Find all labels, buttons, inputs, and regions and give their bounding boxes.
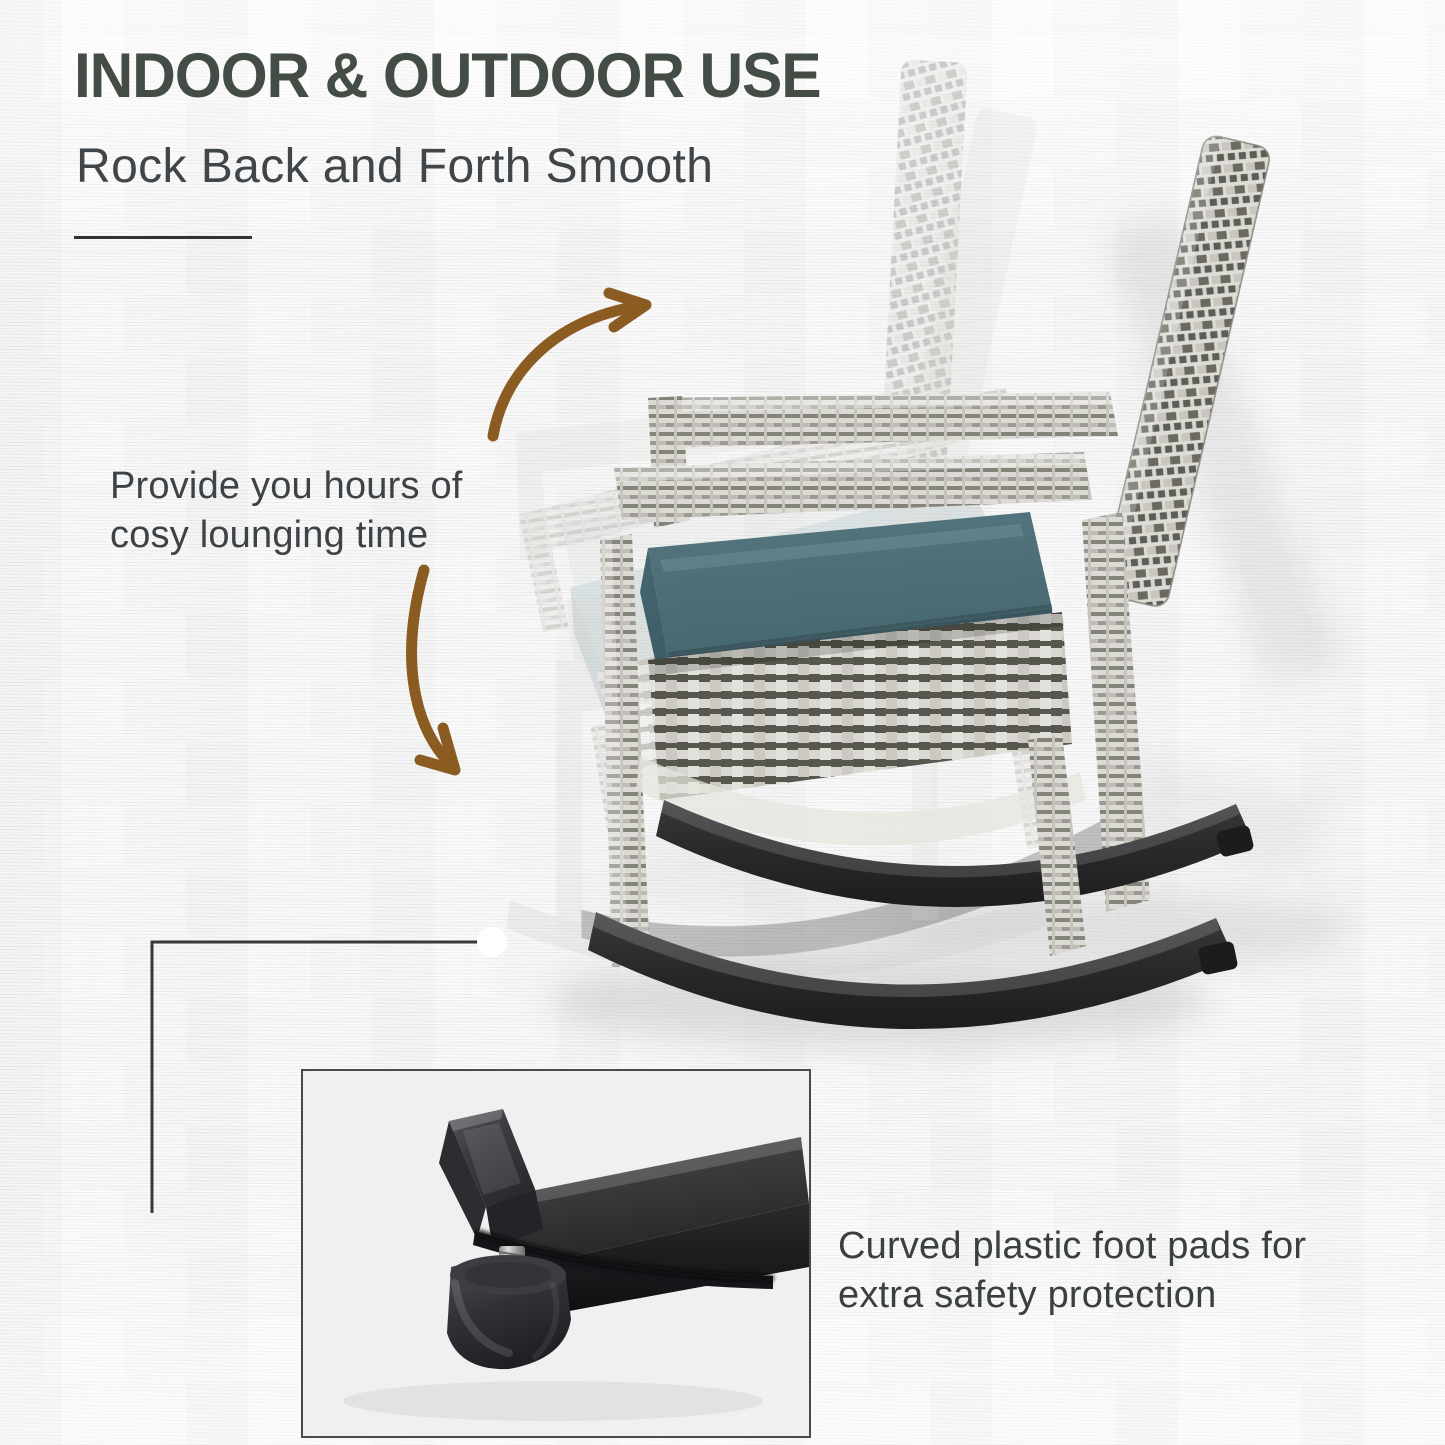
rock-forward-arrow-icon: [493, 293, 646, 436]
foot-pad-photo: [303, 1071, 809, 1436]
foot-pad-detail-box: [301, 1069, 811, 1438]
infographic-canvas: INDOOR & OUTDOOR USE Rock Back and Forth…: [0, 0, 1445, 1445]
rock-backward-arrow-icon: [412, 570, 455, 770]
foot-pad-caption: Curved plastic foot pads for extra safet…: [838, 1222, 1306, 1321]
connector-dot: [477, 927, 507, 957]
